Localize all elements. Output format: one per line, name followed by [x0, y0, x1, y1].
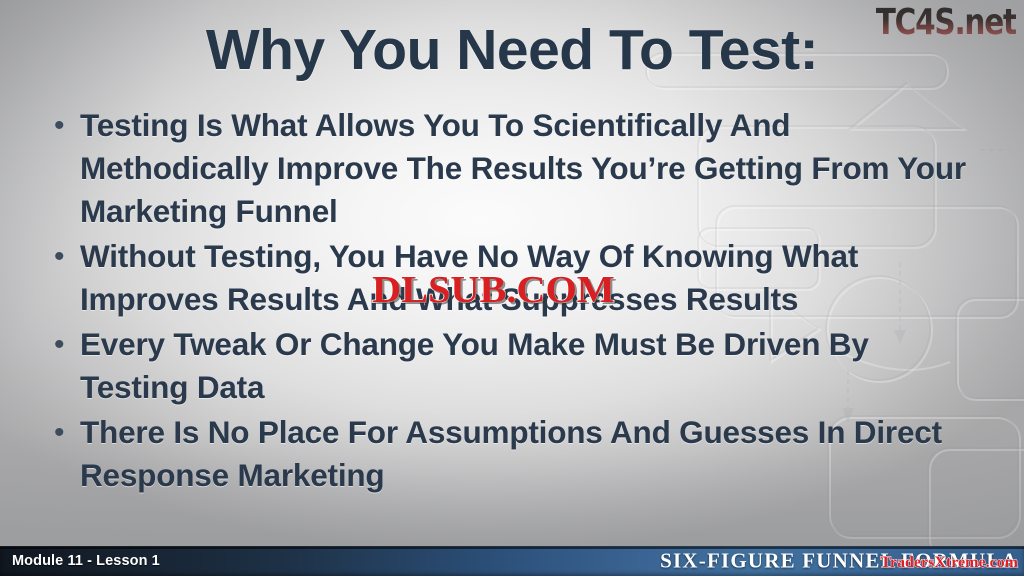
module-lesson-label: Module 11 - Lesson 1: [12, 553, 160, 569]
list-item: • Testing Is What Allows You To Scientif…: [48, 104, 984, 233]
list-item: • Every Tweak Or Change You Make Must Be…: [48, 323, 984, 409]
page-title: Why You Need To Test:: [0, 22, 1024, 79]
bullet-text: Without Testing, You Have No Way Of Know…: [80, 235, 984, 321]
footer-bar: Module 11 - Lesson 1 SIX-FIGURE FUNNEL F…: [0, 546, 1024, 576]
list-item: • Without Testing, You Have No Way Of Kn…: [48, 235, 984, 321]
brand-label: SIX-FIGURE FUNNEL FORMULA: [660, 549, 1018, 574]
bullet-text: There Is No Place For Assumptions And Gu…: [80, 411, 984, 497]
bullet-text: Testing Is What Allows You To Scientific…: [80, 104, 984, 233]
bullet-text: Every Tweak Or Change You Make Must Be D…: [80, 323, 984, 409]
bullet-list: • Testing Is What Allows You To Scientif…: [48, 104, 984, 499]
bullet-marker-icon: •: [48, 323, 80, 367]
bullet-marker-icon: •: [48, 411, 80, 455]
bullet-marker-icon: •: [48, 235, 80, 279]
bullet-marker-icon: •: [48, 104, 80, 148]
slide-canvas: Why You Need To Test: • Testing Is What …: [0, 0, 1024, 576]
list-item: • There Is No Place For Assumptions And …: [48, 411, 984, 497]
